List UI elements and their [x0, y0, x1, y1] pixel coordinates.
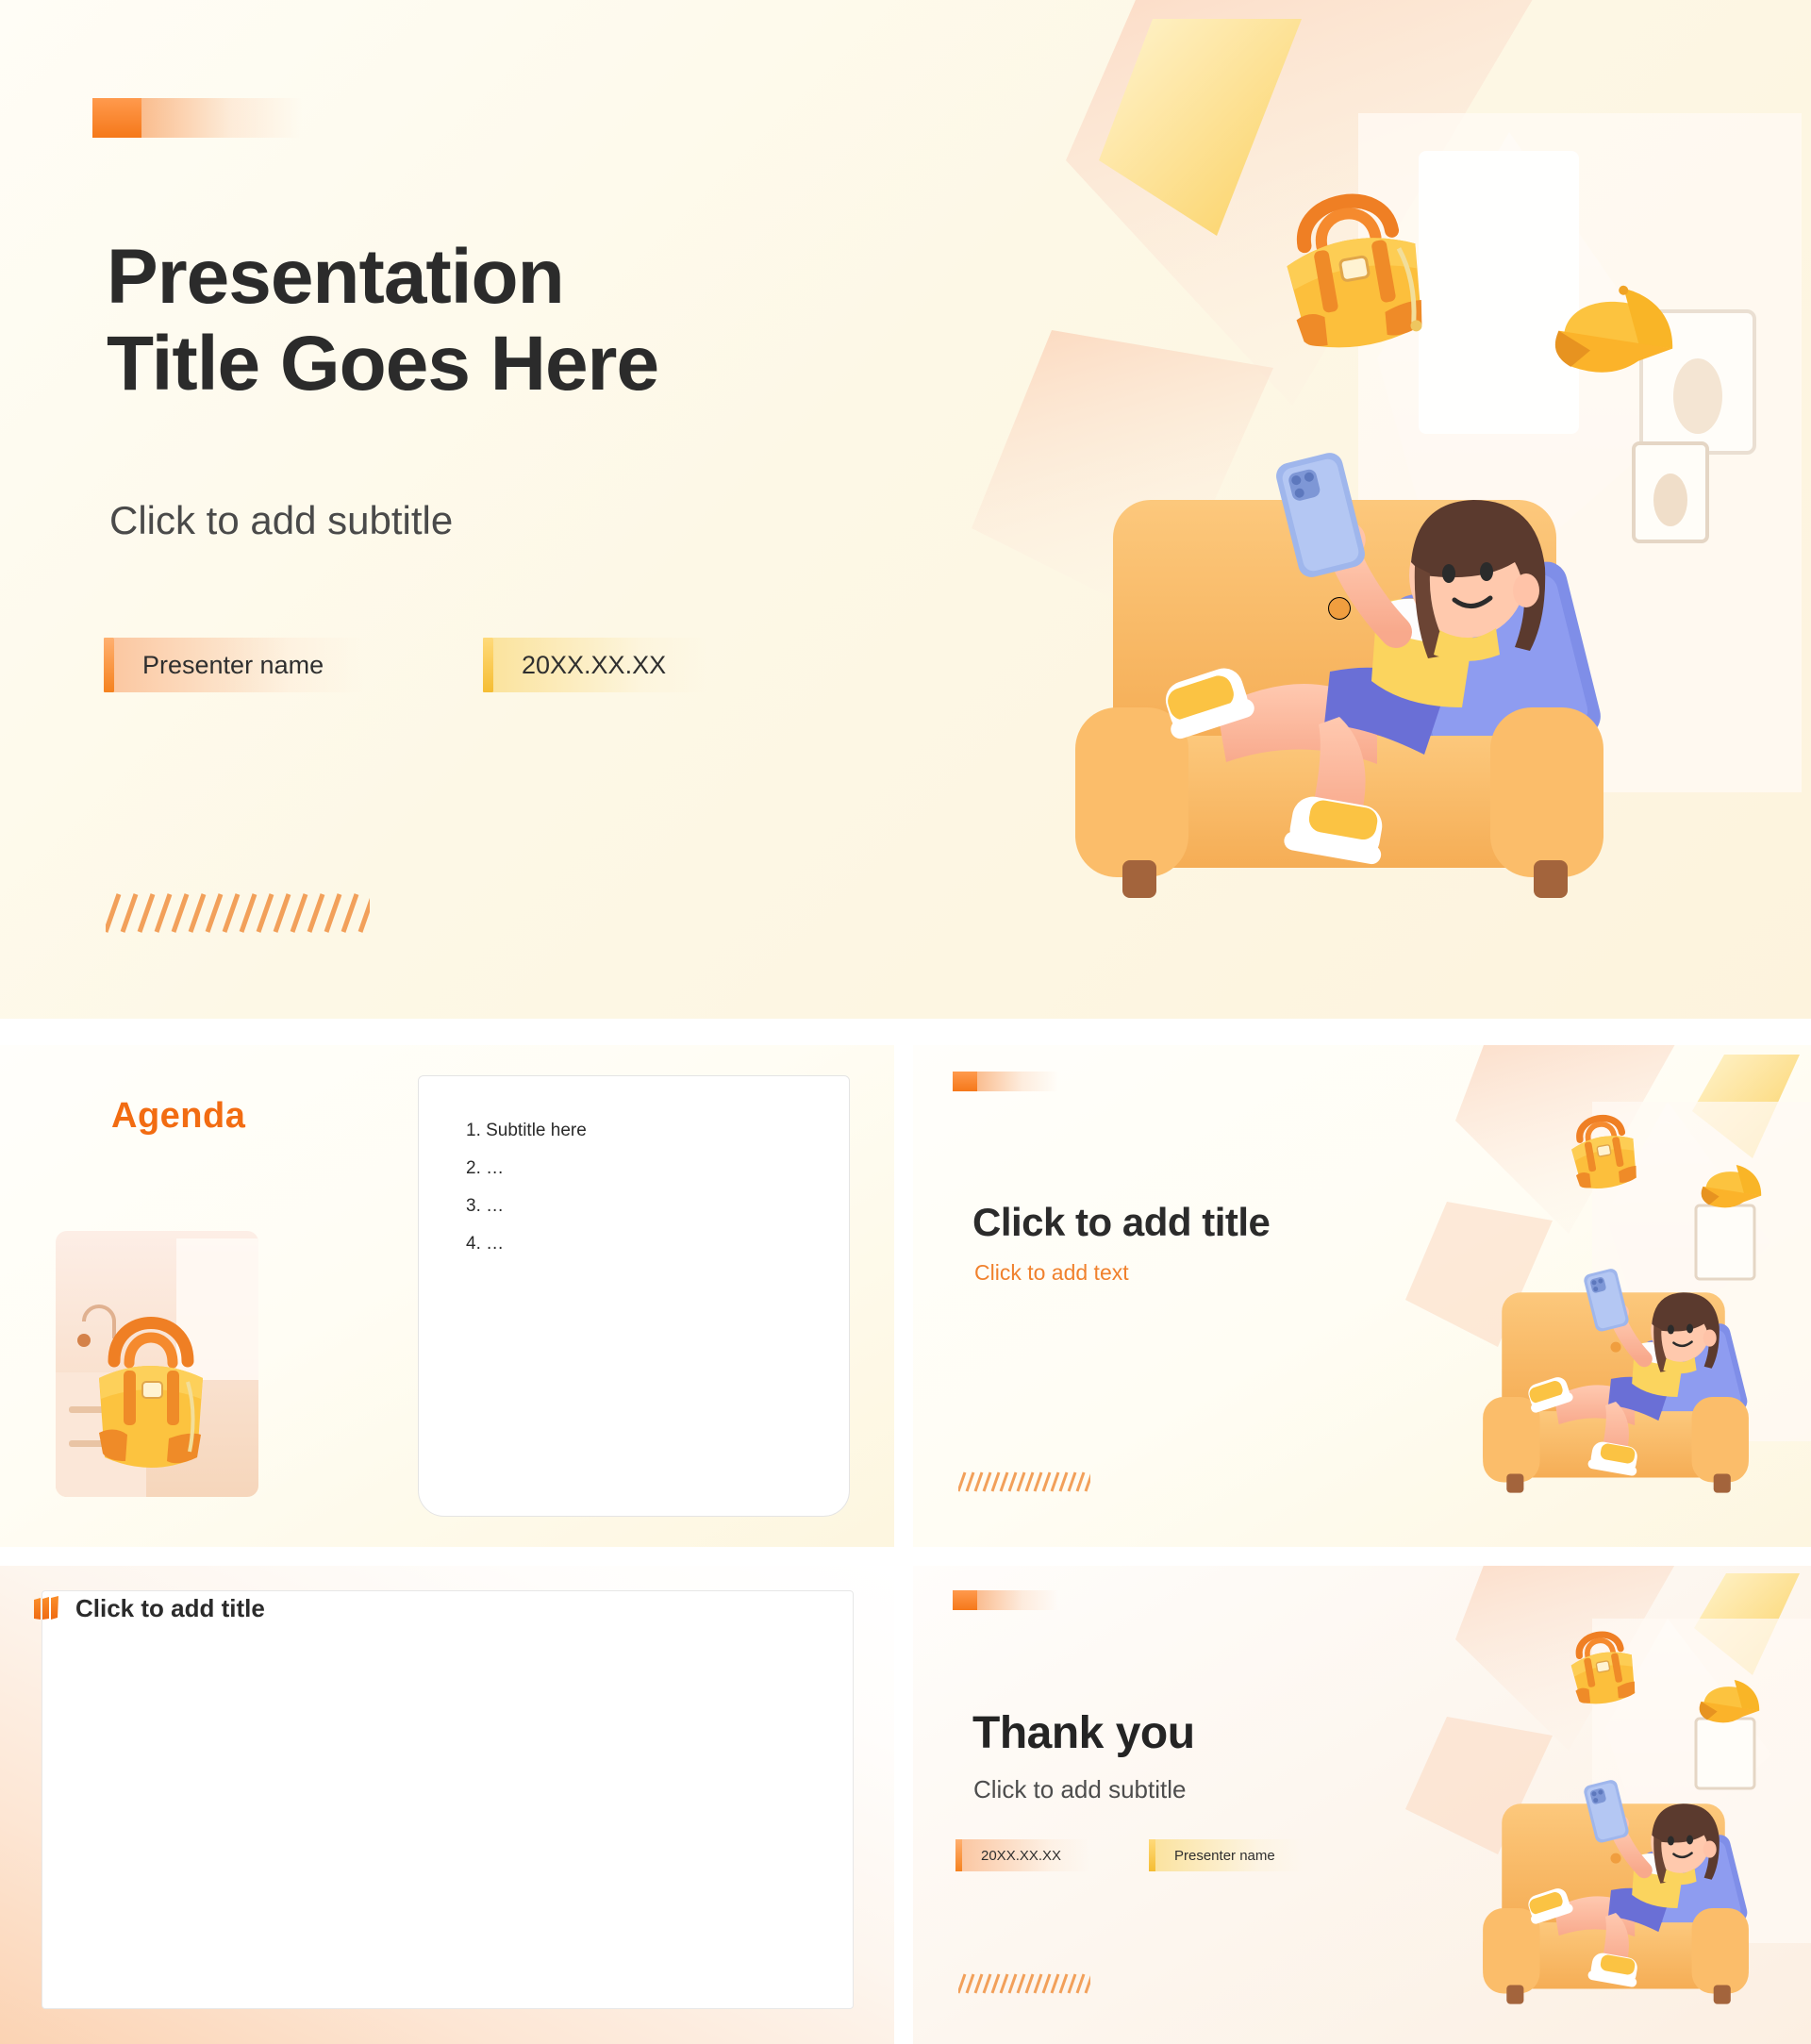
- slide-title[interactable]: Presentation Title Goes Here Click to ad…: [0, 0, 1811, 1019]
- cap-illustration: [1692, 1147, 1779, 1221]
- handbag-illustration: [1236, 151, 1471, 387]
- corner-mark-bar: [977, 1072, 1058, 1091]
- hatch-strip: [958, 1971, 1090, 1996]
- date-badge[interactable]: 20XX.XX.XX: [483, 638, 706, 692]
- content-title-row: Click to add title: [32, 1594, 265, 1623]
- content-panel[interactable]: [42, 1590, 854, 2009]
- presenter-name-badge[interactable]: Presenter name: [1149, 1839, 1304, 1871]
- corner-mark-bar: [141, 98, 302, 138]
- corner-mark: [953, 1590, 1058, 1610]
- list-item[interactable]: 2. …: [466, 1158, 587, 1179]
- slide-thank-you[interactable]: Thank you Click to add subtitle 20XX.XX.…: [913, 1566, 1811, 2044]
- cap-illustration: [1690, 1662, 1777, 1736]
- badge-tick: [483, 638, 493, 692]
- handbag-illustration: [1547, 1611, 1658, 1722]
- girl-on-sofa-illustration: [1411, 1766, 1811, 2044]
- corner-mark-square: [92, 98, 141, 138]
- agenda-title: Agenda: [111, 1096, 245, 1137]
- hatch-strip: [106, 889, 370, 938]
- corner-mark: [953, 1072, 1058, 1091]
- date-badge[interactable]: 20XX.XX.XX: [955, 1839, 1089, 1871]
- girl-on-sofa-illustration: [1411, 1255, 1811, 1547]
- slide-agenda[interactable]: Agenda: [0, 1045, 894, 1547]
- slide-section-title[interactable]: Click to add title Click to add text: [913, 1045, 1811, 1547]
- handbag-illustration: [1547, 1094, 1660, 1207]
- list-item[interactable]: 3. …: [466, 1196, 587, 1217]
- page-title: Click to add title: [972, 1200, 1270, 1245]
- hatch-strip: [958, 1470, 1090, 1494]
- page-title: Thank you: [972, 1707, 1195, 1759]
- presenter-name-badge[interactable]: Presenter name: [104, 638, 363, 692]
- handbag-photo: [56, 1231, 258, 1497]
- corner-mark-square: [953, 1590, 977, 1610]
- badge-label: Presenter name: [1155, 1839, 1304, 1871]
- badge-label: Presenter name: [114, 638, 363, 692]
- badge-tick: [1149, 1839, 1155, 1871]
- page-title: Presentation Title Goes Here: [107, 234, 658, 407]
- page-subtitle[interactable]: Click to add subtitle: [973, 1775, 1186, 1804]
- corner-mark-bar: [977, 1590, 1058, 1610]
- corner-mark-square: [953, 1072, 977, 1091]
- list-item[interactable]: 4. …: [466, 1234, 587, 1255]
- list-item[interactable]: 1. Subtitle here: [466, 1121, 587, 1141]
- page-subtitle: Click to add subtitle: [109, 498, 453, 543]
- girl-on-sofa-illustration: [934, 424, 1726, 1009]
- badge-tick: [955, 1839, 962, 1871]
- badge-label: 20XX.XX.XX: [493, 638, 706, 692]
- body-placeholder[interactable]: Click to add text: [974, 1260, 1129, 1286]
- slide-content[interactable]: Click to add title: [0, 1566, 894, 2044]
- corner-mark: [92, 98, 302, 138]
- badge-tick: [104, 638, 114, 692]
- page-title: Click to add title: [75, 1594, 265, 1623]
- badge-label: 20XX.XX.XX: [962, 1839, 1089, 1871]
- agenda-list: 1. Subtitle here 2. … 3. … 4. …: [466, 1121, 587, 1271]
- three-bars-icon: [32, 1595, 60, 1623]
- slide-deck: Presentation Title Goes Here Click to ad…: [0, 0, 1811, 2044]
- agenda-text-panel[interactable]: 1. Subtitle here 2. … 3. … 4. …: [418, 1075, 850, 1517]
- cap-illustration: [1537, 255, 1707, 396]
